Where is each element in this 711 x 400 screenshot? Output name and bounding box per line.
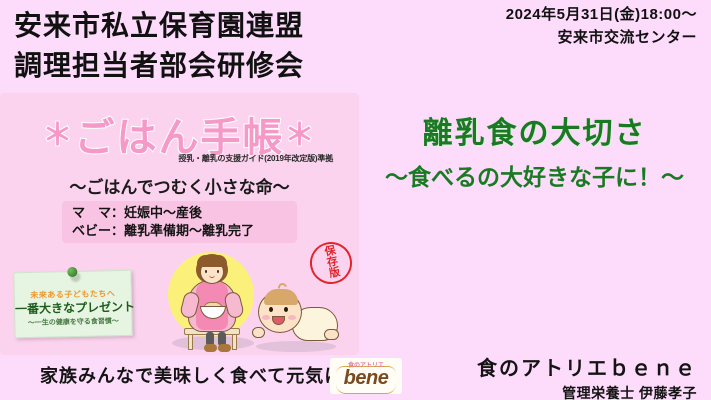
headline-sub: 〜食べるの大好きな子に！〜 <box>358 158 711 192</box>
page-title: 安来市私立保育園連盟 調理担当者部会研修会 <box>14 6 434 86</box>
baby-eye-right <box>284 307 288 312</box>
bench-leg-right <box>232 334 237 350</box>
mother-slipper-right <box>218 344 231 352</box>
note-line-2: 一番大きなプレゼント <box>15 298 131 317</box>
mother-eye-left <box>205 270 207 273</box>
pinned-note-card: 未来ある子どもたちへ 一番大きなプレゼント 〜一生の健康を守る食習慣〜 <box>13 270 132 338</box>
baby-foot <box>324 329 339 340</box>
headline-main: 離乳食の大切さ <box>358 108 711 152</box>
seminar-headline: 離乳食の大切さ 〜食べるの大好きな子に！〜 <box>358 108 711 192</box>
baby-cheek-left <box>262 315 270 320</box>
bench-leg-left <box>188 334 193 350</box>
title-line-2: 調理担当者部会研修会 <box>14 46 434 86</box>
credit-person: 管理栄養士 伊藤孝子 <box>477 383 697 400</box>
mother-bangs <box>197 255 227 267</box>
asterisk-left-icon: ＊ <box>43 119 75 152</box>
baby-shadow <box>256 341 336 352</box>
poster-canvas: 安来市私立保育園連盟 調理担当者部会研修会 2024年5月31日(金)18:00… <box>0 0 711 400</box>
title-line-1: 安来市私立保育園連盟 <box>14 6 434 46</box>
mother-slipper-left <box>204 344 217 352</box>
presenter-credit: 食のアトリエｂｅｎｅ 管理栄養士 伊藤孝子 <box>477 352 697 400</box>
credit-organization: 食のアトリエｂｅｎｅ <box>477 352 697 381</box>
bottom-slogan: 家族みんなで美味しく食べて元気に！ <box>40 362 362 388</box>
bene-logo: 食のアトリエ bene <box>330 358 402 394</box>
stamp-label: 保存版 <box>322 244 340 282</box>
baby-illustration <box>250 285 342 355</box>
baby-hand <box>252 327 265 338</box>
mother-eye-right <box>217 270 219 273</box>
asterisk-right-icon: ＊ <box>285 119 317 152</box>
logo-swash-bottom <box>336 384 396 394</box>
baby-eye-left <box>269 307 273 312</box>
baby-cheek-right <box>288 315 296 320</box>
event-meta: 2024年5月31日(金)18:00〜 安来市交流センター <box>506 4 697 49</box>
target-line-baby: ベビー：離乳準備期〜離乳完了 <box>72 222 289 240</box>
target-audience-box: マ マ：妊娠中〜産後 ベビー：離乳準備期〜離乳完了 <box>62 201 297 243</box>
event-datetime: 2024年5月31日(金)18:00〜 <box>506 4 697 27</box>
target-line-mama: マ マ：妊娠中〜産後 <box>72 204 289 222</box>
event-venue: 安来市交流センター <box>506 27 697 50</box>
guide-note: 授乳・離乳の支援ガイド(2019年改定版)準拠 <box>178 153 333 164</box>
booklet-tagline: 〜ごはんでつむく小さな命〜 <box>0 173 359 198</box>
note-line-1: 未来ある子どもたちへ <box>15 288 131 301</box>
note-line-3: 〜一生の健康を守る食習慣〜 <box>15 316 131 328</box>
pushpin-icon <box>67 267 77 277</box>
